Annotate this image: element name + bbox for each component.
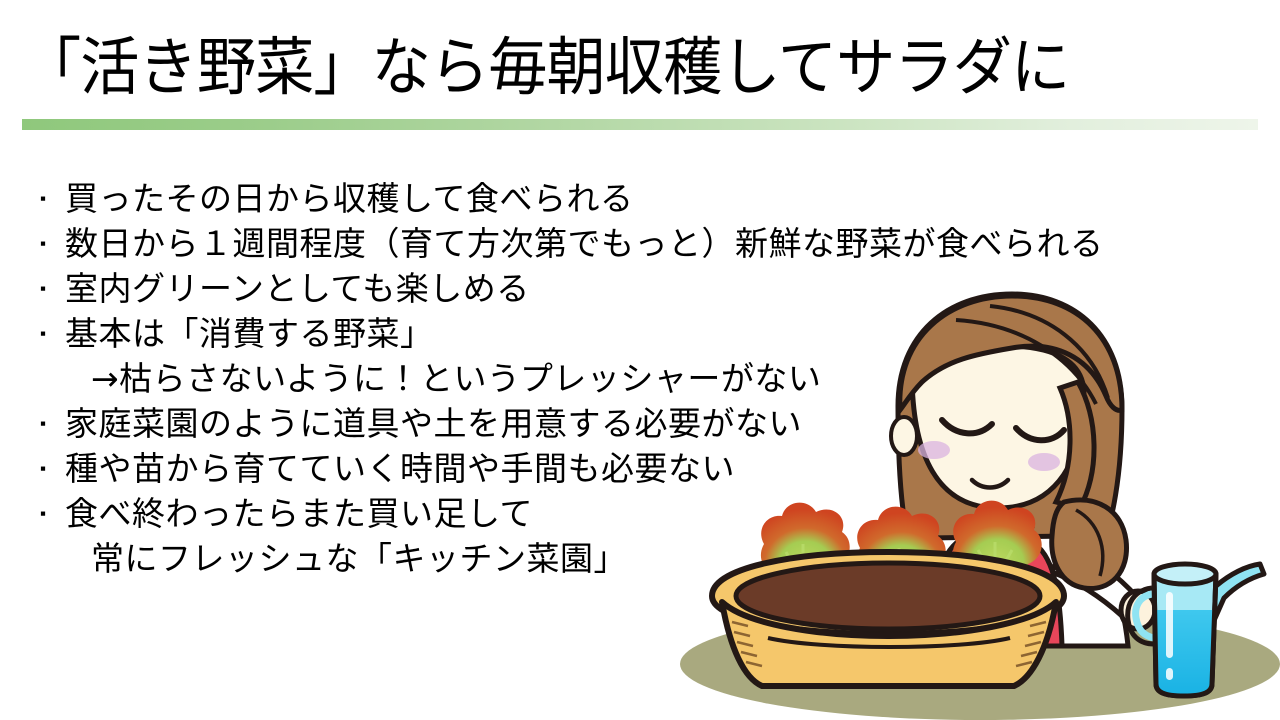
- list-item-label: 数日から１週間程度（育て方次第でもっと）新鮮な野菜が食べられる: [65, 221, 1104, 266]
- list-item-label: 種や苗から育てていく時間や手間も必要ない: [65, 446, 735, 491]
- watering-can-water: [1155, 610, 1215, 696]
- bullet-square-icon: ▪: [38, 221, 65, 266]
- bullet-square-icon: ▪: [38, 446, 65, 491]
- list-item: ▪ 数日から１週間程度（育て方次第でもっと）新鮮な野菜が食べられる: [38, 221, 1268, 266]
- watering-can-highlight: [1166, 592, 1173, 658]
- slide-canvas: 「活き野菜」なら毎朝収穫してサラダに ▪ 買ったその日から収穫して食べられる ▪…: [0, 0, 1280, 720]
- page-title: 「活き野菜」なら毎朝収穫してサラダに: [22, 24, 1178, 112]
- list-item: ▪ 買ったその日から収穫して食べられる: [38, 176, 1268, 221]
- blush-right: [1028, 453, 1060, 471]
- watering-can-rim: [1154, 564, 1216, 584]
- list-item-label: 基本は「消費する野菜」: [65, 311, 434, 356]
- list-item-label: 室内グリーンとしても楽しめる: [65, 266, 530, 311]
- title-block: 「活き野菜」なら毎朝収穫してサラダに: [22, 24, 1252, 116]
- list-item-label: 常にフレッシュな「キッチン菜園」: [65, 536, 627, 581]
- ear: [891, 417, 917, 455]
- watering-can-highlight: [1166, 668, 1173, 680]
- planter-rim-inner: [736, 563, 1040, 629]
- ponytail: [1052, 500, 1127, 589]
- illustration-woman-watering-lettuce: [660, 286, 1280, 720]
- bullet-square-icon: ▪: [38, 266, 65, 311]
- blush-left: [918, 441, 950, 459]
- planter-with-lettuce: [712, 501, 1064, 686]
- bullet-square-icon: ▪: [38, 491, 65, 536]
- bullet-square-icon: ▪: [38, 311, 65, 356]
- bullet-square-icon: ▪: [38, 176, 65, 221]
- list-item-label: 買ったその日から収穫して食べられる: [65, 176, 634, 221]
- list-item-label: 食べ終わったらまた買い足して: [65, 491, 533, 536]
- green-gradient-divider: [22, 119, 1258, 130]
- bullet-square-icon: ▪: [38, 401, 65, 446]
